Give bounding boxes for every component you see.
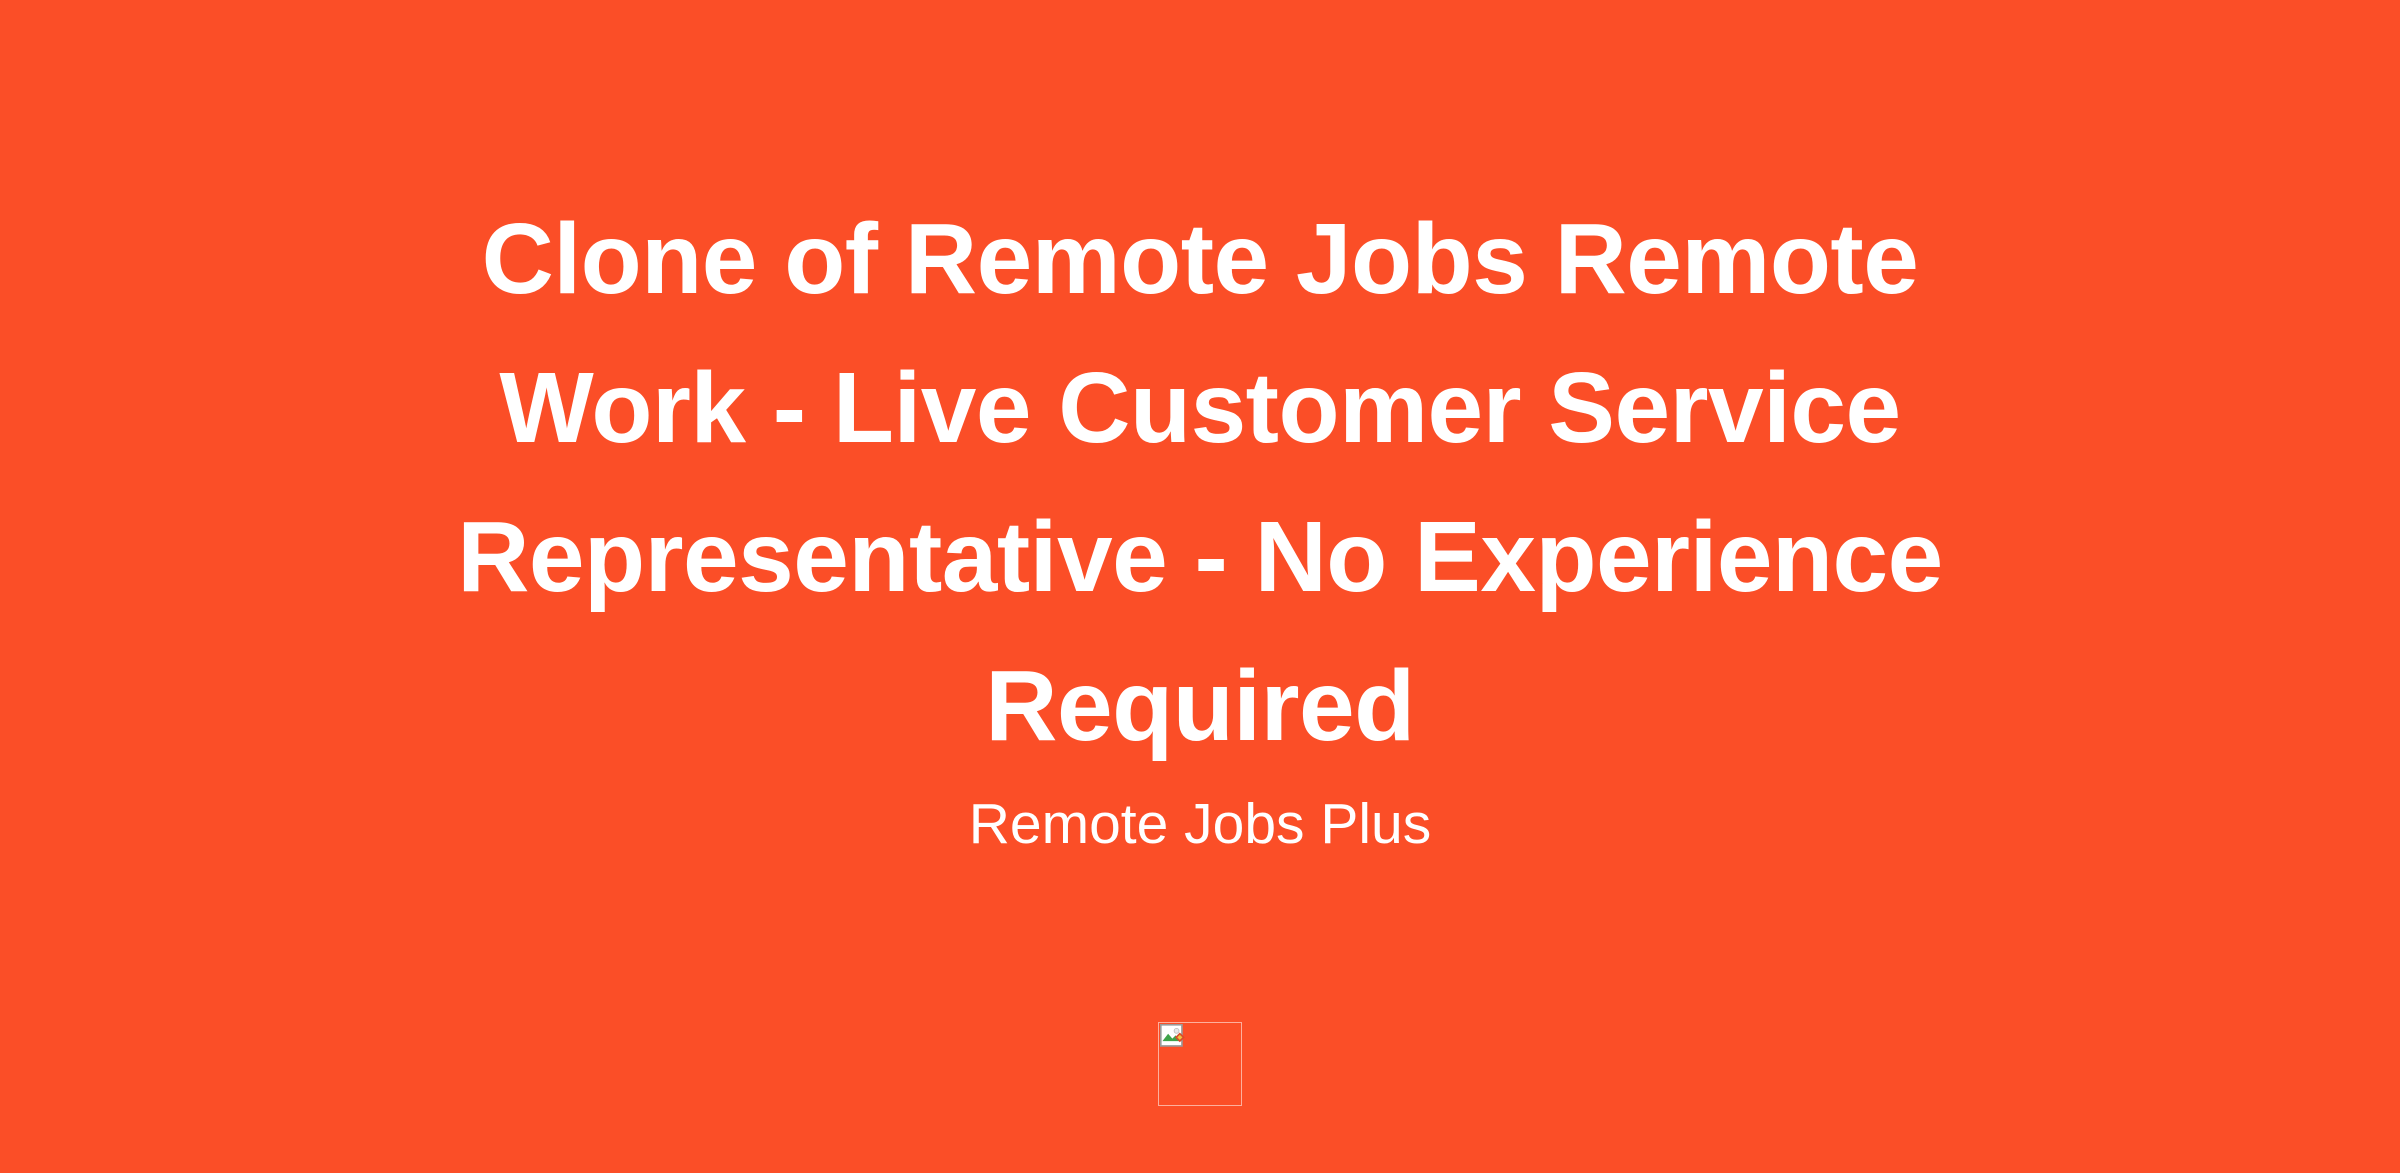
page-root: Clone of Remote Jobs Remote Work - Live … xyxy=(0,0,2400,1173)
broken-image-icon xyxy=(1160,1024,1186,1050)
page-subtitle: Remote Jobs Plus xyxy=(370,781,2030,867)
broken-image-alt-text xyxy=(1159,1109,1243,1123)
page-title: Clone of Remote Jobs Remote Work - Live … xyxy=(370,185,2030,781)
broken-image-placeholder[interactable] xyxy=(1158,1022,1242,1106)
hero-section: Clone of Remote Jobs Remote Work - Live … xyxy=(370,185,2030,867)
